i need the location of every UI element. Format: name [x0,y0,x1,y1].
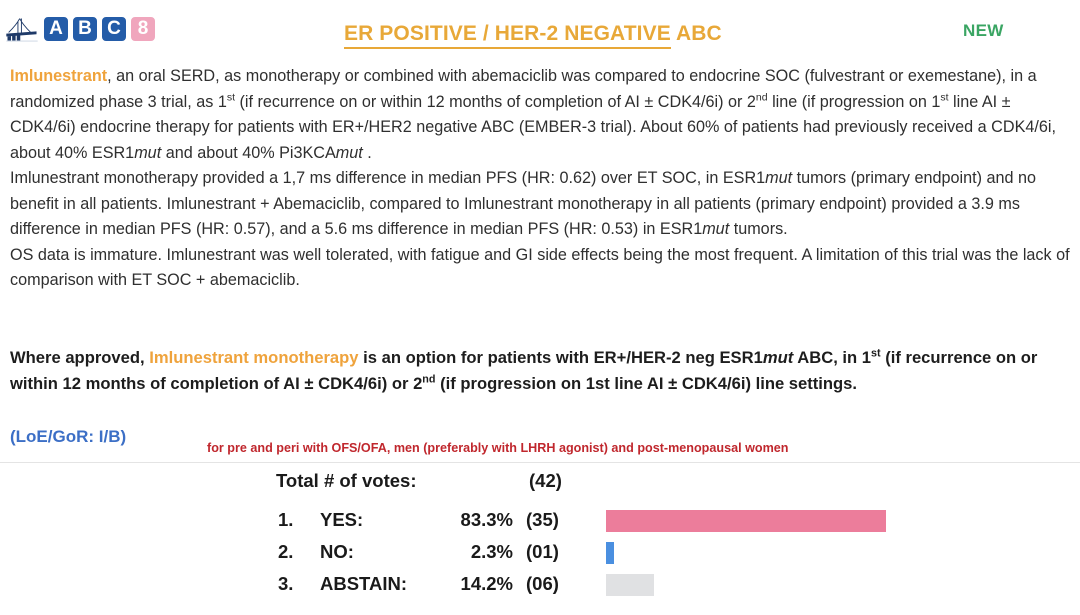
vote-row-no: 2. NO: 2.3% (01) [276,538,1076,570]
p1-f: . [363,144,372,162]
vote-yes-bar [606,510,886,532]
p1-sup-3: st [940,91,948,103]
vote-no-percent: 2.3% [406,541,513,563]
votes-total-row: Total # of votes: (42) [276,468,1076,506]
logo-tile-a: A [43,16,69,42]
vote-abstain-number: 3. [278,573,293,595]
abc8-logo: A B C 8 [4,6,156,52]
vote-abstain-percent: 14.2% [406,573,513,595]
reco-sup-2: nd [422,373,435,385]
vote-row-yes: 1. YES: 83.3% (35) [276,506,1076,538]
reco-a: Where approved, [10,348,149,367]
body-text: Imlunestrant, an oral SERD, as monothera… [10,64,1072,294]
votes-block: Total # of votes: (42) 1. YES: 83.3% (35… [276,468,1076,602]
vote-yes-label: YES: [320,509,363,531]
p1-italic-2: mut [336,144,363,162]
vote-abstain-bar [606,574,654,596]
logo-tile-b: B [72,16,98,42]
reco-c: ABC, in 1 [793,348,871,367]
p2-a: Imlunestrant monotherapy provided a 1,7 … [10,169,765,187]
p1-sup-1: st [227,91,235,103]
bridge-icon [4,7,40,51]
vote-row-abstain: 3. ABSTAIN: 14.2% (06) [276,570,1076,602]
vote-yes-number: 1. [278,509,293,531]
recommendation-text: Where approved, Imlunestrant monotherapy… [10,345,1060,397]
vote-no-count: (01) [526,541,559,563]
vote-abstain-count: (06) [526,573,559,595]
p1-b: (if recurrence on or within 12 months of… [235,93,756,111]
loe-gor-label: (LoE/GoR: I/B) [10,427,126,447]
p2-c: tumors. [729,220,787,238]
reco-sup-1: st [871,347,881,359]
paragraph-1: Imlunestrant, an oral SERD, as monothera… [10,64,1072,166]
abc8-tiles: A B C 8 [43,16,156,42]
drug-name-highlight: Imlunestrant [10,67,107,85]
vote-abstain-bar-wrap [606,574,1046,596]
vote-yes-percent: 83.3% [406,509,513,531]
vote-no-label: NO: [320,541,354,563]
reco-b: is an option for patients with ER+/HER-2… [359,348,763,367]
p1-sup-2: nd [756,91,768,103]
footnote-text: for pre and peri with OFS/OFA, men (pref… [207,441,788,455]
page-title: ER POSITIVE / HER-2 NEGATIVE ABC [344,22,722,46]
reco-italic-1: mut [763,348,793,367]
logo-tile-8: 8 [130,16,156,42]
section-divider [0,462,1080,463]
logo-tile-c: C [101,16,127,42]
p1-italic-1: mut [134,144,161,162]
reco-e: (if progression on 1st line AI ± CDK4/6i… [435,374,857,393]
vote-yes-count: (35) [526,509,559,531]
vote-no-bar [606,542,614,564]
votes-total-count: (42) [529,470,562,492]
p2-italic-2: mut [702,220,729,238]
slide-root: A B C 8 ER POSITIVE / HER-2 NEGATIVE ABC… [0,0,1080,615]
p1-c: line (if progression on 1 [768,93,941,111]
new-badge: NEW [963,21,1004,41]
slide-header: A B C 8 ER POSITIVE / HER-2 NEGATIVE ABC… [0,0,1080,58]
vote-no-bar-wrap [606,542,1046,564]
paragraph-2: Imlunestrant monotherapy provided a 1,7 … [10,166,1072,243]
vote-no-number: 2. [278,541,293,563]
page-title-underlined: ER POSITIVE / HER-2 NEGATIVE [344,22,671,49]
p1-e: and about 40% Pi3KCA [161,144,336,162]
page-title-tail: ABC [671,22,722,45]
vote-abstain-label: ABSTAIN: [320,573,407,595]
vote-yes-bar-wrap [606,510,1046,532]
paragraph-3: OS data is immature. Imlunestrant was we… [10,243,1072,294]
votes-total-label: Total # of votes: [276,470,416,492]
reco-drug-highlight: Imlunestrant monotherapy [149,348,358,367]
p2-italic-1: mut [765,169,792,187]
